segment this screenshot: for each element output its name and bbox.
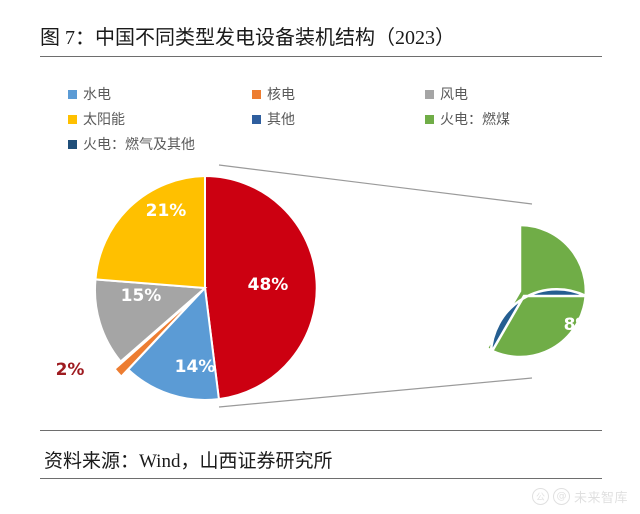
legend-label-hydro: 水电 [83,84,111,104]
legend-swatch-wind [425,90,434,99]
legend-item-other[interactable]: 其他 [252,109,295,129]
pie-label-thermal: 48% [248,275,289,295]
chart-bottom-divider [40,430,602,431]
chart-legend: 水电 核电 风电 太阳能 其他 火电：燃煤 火电：燃气及其他 [68,84,568,156]
pie-label-nuclear: 2% [56,360,85,380]
legend-item-hydro[interactable]: 水电 [68,84,111,104]
legend-label-thermal-gas: 火电：燃气及其他 [83,134,195,154]
main-pie: 48% 14% 2% 15% 21% [56,176,317,400]
legend-swatch-solar [68,115,77,124]
pie-slice-solar[interactable] [96,176,206,288]
legend-swatch-thermal-gas [68,140,77,149]
pie-of-pie-chart: 48% 14% 2% 15% 21% 40% 8% [40,160,602,422]
figure-container: 图 7：中国不同类型发电设备装机结构（2023） 水电 核电 风电 太阳能 其他… [0,0,640,514]
source-divider [40,478,602,479]
source-row: 资料来源：Wind，山西证券研究所 [44,442,332,476]
pie-label-hydro: 14% [175,357,216,377]
watermark: 公 @ 未来智库 [532,487,628,506]
watermark-logo-icon: 公 [532,488,549,505]
legend-swatch-other [252,115,261,124]
page-title: 图 7：中国不同类型发电设备装机结构（2023） [40,21,455,50]
chart-plot-area: 48% 14% 2% 15% 21% 40% 8% [40,160,602,422]
watermark-text: 未来智库 [574,487,628,506]
legend-label-nuclear: 核电 [267,84,295,104]
pie-label-thermal-coal: 40% [476,232,517,252]
pie-label-thermal-gas: 8% [564,315,593,335]
legend-label-other: 其他 [267,109,295,129]
legend-swatch-hydro [68,90,77,99]
legend-item-thermal-gas[interactable]: 火电：燃气及其他 [68,134,195,154]
legend-swatch-thermal-coal [425,115,434,124]
legend-item-wind[interactable]: 风电 [425,84,468,104]
legend-item-thermal-coal[interactable]: 火电：燃煤 [425,109,510,129]
title-divider [40,56,602,57]
watermark-at-icon: @ [553,488,570,505]
legend-item-solar[interactable]: 太阳能 [68,109,125,129]
source-text: 资料来源：Wind，山西证券研究所 [44,446,332,473]
legend-item-nuclear[interactable]: 核电 [252,84,295,104]
legend-label-thermal-coal: 火电：燃煤 [440,109,510,129]
legend-swatch-nuclear [252,90,261,99]
pie-label-solar: 21% [146,201,187,221]
pie-label-wind: 15% [121,286,162,306]
secondary-pie: 40% 8% [476,225,593,357]
legend-label-wind: 风电 [440,84,468,104]
figure-title-row: 图 7：中国不同类型发电设备装机结构（2023） [40,14,602,56]
legend-label-solar: 太阳能 [83,109,125,129]
